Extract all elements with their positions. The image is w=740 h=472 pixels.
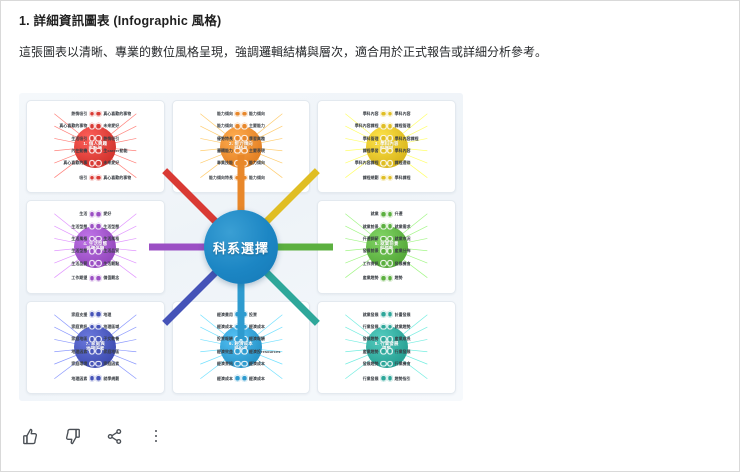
- cluster-card-economic-cost[interactable]: 6. 經濟成本與投資經濟費用經濟成本投資報酬經濟效益經濟資訊經濟成本投資經濟成本…: [172, 301, 311, 394]
- cluster-leaf[interactable]: 經濟成本: [241, 324, 309, 331]
- cluster-leaf[interactable]: 學科內容課程: [318, 123, 386, 130]
- cluster-leaf[interactable]: 子女教養: [95, 336, 163, 343]
- cluster-leaf[interactable]: 經濟報酬: [241, 336, 309, 343]
- cluster-leaf[interactable]: 生活觀點: [95, 260, 163, 267]
- infographic-grid: 1. 個人興趣與動機熱情吸引真心喜歡的事物生活吸引內在動機真心喜歡的事吸引真心喜…: [19, 93, 463, 401]
- cluster-leaf-dot: [380, 311, 387, 318]
- cluster-card-lifestyle-values[interactable]: 4. 生活型態與價值觀生活生活型態生活風格生活型態生活品質工作期望愛好生活型態生…: [26, 200, 165, 293]
- cluster-leaf-label: 生活品質: [103, 248, 119, 254]
- cluster-leaf-label: 地理因素: [71, 348, 87, 354]
- cluster-leaf-dot: [241, 135, 248, 142]
- cluster-leaf-label: 經濟報酬: [249, 336, 265, 342]
- cluster-leaf-dot: [387, 248, 394, 255]
- cluster-leaf[interactable]: 工作資訊: [318, 260, 386, 267]
- cluster-leaf-label: 升遷: [395, 211, 403, 217]
- cluster-leaf-dot: [234, 174, 241, 181]
- cluster-leaf[interactable]: 發展機會: [387, 260, 455, 267]
- cluster-leaf[interactable]: 經濟成本: [241, 375, 309, 382]
- message-paragraph: 這張圖表以清晰、專業的數位風格呈現，強調邏輯結構與層次，適合用於正式報告或詳細分…: [19, 41, 709, 64]
- cluster-leaf[interactable]: 能力傾向: [173, 111, 241, 118]
- cluster-leaf-label: 吸引: [79, 175, 87, 181]
- cluster-leaf-label: 生活型態: [103, 223, 119, 229]
- cluster-leaf-label: 價值觀念: [103, 275, 119, 281]
- cluster-leaf-dot: [380, 135, 387, 142]
- cluster-leaf-label: 邏輯能力: [217, 148, 233, 154]
- cluster-leaf[interactable]: 能力傾向: [241, 174, 309, 181]
- cluster-leaf-dot: [234, 160, 241, 167]
- cluster-leaf-dot: [387, 236, 394, 243]
- cluster-leaf[interactable]: 能力傾向: [173, 123, 241, 130]
- cluster-leaf-label: 經濟成本: [249, 361, 265, 367]
- cluster-leaf-dot: [380, 375, 387, 382]
- cluster-leaf[interactable]: 熱情吸引: [95, 135, 163, 142]
- thumbs-down-icon[interactable]: [61, 425, 83, 447]
- cluster-leaf[interactable]: 地理: [95, 311, 163, 318]
- cluster-leaf-label: 能力傾向: [217, 111, 233, 117]
- cluster-leaf-dot: [95, 324, 102, 331]
- cluster-leaf-label: 學科內容: [395, 111, 411, 117]
- cluster-leaf[interactable]: 家庭地區: [95, 348, 163, 355]
- cluster-leaf-dot: [380, 160, 387, 167]
- cluster-leaf[interactable]: 發展趨勢: [318, 361, 386, 368]
- cluster-leaf[interactable]: 地理因素: [27, 375, 95, 382]
- cluster-leaf[interactable]: 真心喜歡的事物: [95, 111, 163, 118]
- cluster-leaf-dot: [380, 336, 387, 343]
- cluster-leaf[interactable]: 經濟資訊: [173, 361, 241, 368]
- cluster-leaf-label: 趨勢指引: [395, 375, 411, 381]
- cluster-leaf-label: 能力傾向特長: [209, 175, 233, 181]
- cluster-leaf[interactable]: 投資: [241, 311, 309, 318]
- cluster-leaf[interactable]: 能力傾向: [241, 160, 309, 167]
- cluster-leaf-label: 産業分佈: [395, 248, 411, 254]
- cluster-leaf-label: 課程規劃: [363, 175, 379, 181]
- cluster-leaf[interactable]: 行業機會: [387, 361, 455, 368]
- cluster-leaf-label: 學科內容: [363, 111, 379, 117]
- cluster-leaf-dot: [95, 160, 102, 167]
- cluster-leaf-label: 經濟成本: [217, 324, 233, 330]
- cluster-leaf-label: 經濟投resources: [249, 348, 280, 354]
- cluster-leaf-label: 家庭地區: [71, 336, 87, 342]
- cluster-leaf-label: 熱情吸引: [103, 135, 119, 141]
- cluster-leaf-label: 學科內容課程: [395, 135, 419, 141]
- cluster-leaf-label: 就學規劃: [103, 375, 119, 381]
- cluster-leaf-dot: [95, 275, 102, 282]
- cluster-leaf[interactable]: 就業發展: [318, 311, 386, 318]
- cluster-leaf-label: 生活觀點: [103, 260, 119, 266]
- cluster-leaf-dot: [95, 111, 102, 118]
- cluster-leaf[interactable]: 家庭環境: [27, 361, 95, 368]
- cluster-leaf[interactable]: 優勢特長: [173, 135, 241, 142]
- cluster-leaf-dot: [234, 375, 241, 382]
- cluster-leaf-label: 熱情吸引: [71, 111, 87, 117]
- cluster-leaf[interactable]: 投資報酬: [173, 336, 241, 343]
- cluster-leaf-label: 專業技能: [217, 160, 233, 166]
- cluster-leaf-dot: [241, 324, 248, 331]
- cluster-leaf-dot: [241, 336, 248, 343]
- cluster-leaf-label: 學科內容課程: [355, 160, 379, 166]
- cluster-leaf[interactable]: 學科內容: [387, 148, 455, 155]
- cluster-leaf-label: 經濟成本: [249, 375, 265, 381]
- cluster-leaf-label: 學科課程: [395, 175, 411, 181]
- cluster-leaf-dot: [380, 174, 387, 181]
- cluster-leaf[interactable]: 産業成長: [387, 336, 455, 343]
- cluster-leaf[interactable]: 價值觀念: [95, 275, 163, 282]
- cluster-leaf[interactable]: 升遷: [387, 211, 455, 218]
- cluster-leaf-label: 發展趨勢: [363, 336, 379, 342]
- cluster-leaf-dot: [95, 375, 102, 382]
- cluster-leaf-label: 工作資訊: [363, 260, 379, 266]
- cluster-leaf[interactable]: 生活品質: [95, 248, 163, 255]
- cluster-leaf[interactable]: 行業發展: [387, 348, 455, 355]
- cluster-leaf[interactable]: 家庭地區: [27, 336, 95, 343]
- cluster-leaf-dot: [387, 348, 394, 355]
- cluster-card-ability-strength[interactable]: 2. 能力傾向與特長能力傾向能力傾向優勢特長邏輯能力專業技能能力傾向特長能力傾向…: [172, 100, 311, 193]
- cluster-leaf[interactable]: 真心喜歡的事: [27, 160, 95, 167]
- cluster-leaf-label: 生活風格: [71, 236, 87, 242]
- cluster-leaf[interactable]: 學科內容: [387, 111, 455, 118]
- cluster-card-personal-interest[interactable]: 1. 個人興趣與動機熱情吸引真心喜歡的事物生活吸引內在動機真心喜歡的事吸引真心喜…: [26, 100, 165, 193]
- cluster-leaf-label: 學科管理: [363, 135, 379, 141]
- cluster-leaf[interactable]: 趨勢指引: [387, 375, 455, 382]
- cluster-leaf-label: 生活型態: [71, 223, 87, 229]
- thumbs-up-icon[interactable]: [19, 425, 41, 447]
- cluster-leaf[interactable]: 就業需求: [387, 223, 455, 230]
- cluster-leaf[interactable]: 學科內容: [318, 111, 386, 118]
- cluster-leaf[interactable]: 生career動能: [95, 148, 163, 155]
- cluster-leaf[interactable]: 愛好: [95, 211, 163, 218]
- cluster-leaf-dot: [380, 348, 387, 355]
- cluster-leaf[interactable]: 學科內容課程: [387, 135, 455, 142]
- cluster-leaf-label: 生活吸引: [71, 135, 87, 141]
- cluster-leaf-label: 學科內容課程: [355, 123, 379, 129]
- cluster-leaf[interactable]: 生活型態: [27, 223, 95, 230]
- cluster-leaf-dot: [387, 111, 394, 118]
- cluster-leaf-dot: [95, 260, 102, 267]
- page-title: 1. 詳細資訊圖表 (Infographic 風格): [19, 13, 721, 29]
- cluster-card-subject-curriculum[interactable]: 3. 學科內容與課程學科內容學科內容課程學科管理課程學習學科內容課程課程規劃學科…: [317, 100, 456, 193]
- cluster-leaf-label: 計畫發展: [395, 311, 411, 317]
- cluster-leaf-label: 家庭地區: [103, 348, 119, 354]
- cluster-leaf-label: 生career動能: [103, 148, 127, 154]
- cluster-leaf-label: 發展前景: [363, 248, 379, 254]
- cluster-leaf-label: 內在動機: [71, 148, 87, 154]
- cluster-leaf-label: 課程學習: [363, 148, 379, 154]
- cluster-leaf-dot: [95, 348, 102, 355]
- cluster-leaf[interactable]: 吸引: [27, 174, 95, 181]
- cluster-leaf-dot: [387, 375, 394, 382]
- cluster-leaf[interactable]: 升遷調薪: [318, 236, 386, 243]
- share-icon[interactable]: [103, 425, 125, 447]
- cluster-leaf[interactable]: 熱情吸引: [27, 111, 95, 118]
- cluster-leaf[interactable]: 學科課程: [387, 174, 455, 181]
- cluster-leaf-dot: [95, 311, 102, 318]
- cluster-leaf-dot: [95, 135, 102, 142]
- cluster-leaf-dot: [241, 123, 248, 130]
- cluster-leaf-dot: [234, 123, 241, 130]
- cluster-leaf-label: 産業成長: [395, 336, 411, 342]
- cluster-leaf-dot: [234, 111, 241, 118]
- cluster-leaf-dot: [380, 123, 387, 130]
- cluster-leaf-label: 學科內容: [395, 148, 411, 154]
- cluster-leaf-dot: [380, 361, 387, 368]
- cluster-leaf[interactable]: 産業分佈: [387, 248, 455, 255]
- cluster-leaf[interactable]: 發展前景: [318, 248, 386, 255]
- cluster-leaf-label: 優勢特長: [217, 135, 233, 141]
- cluster-leaf-dot: [387, 135, 394, 142]
- cluster-leaf[interactable]: 課程管理: [387, 123, 455, 130]
- cluster-leaf-label: 地理: [103, 311, 111, 317]
- cluster-leaf-label: 投資報酬: [217, 336, 233, 342]
- cluster-leaf-label: 課程管理: [395, 123, 411, 129]
- cluster-leaf-dot: [380, 111, 387, 118]
- cluster-leaf-label: 子女教養: [103, 336, 119, 342]
- cluster-leaf-dot: [241, 148, 248, 155]
- cluster-leaf[interactable]: 經濟投resources: [241, 348, 309, 355]
- cluster-leaf-label: 未來愛好: [103, 160, 119, 166]
- cluster-leaf-dot: [95, 123, 102, 130]
- cluster-leaf[interactable]: 産業趨勢: [318, 348, 386, 355]
- cluster-leaf-dot: [380, 260, 387, 267]
- cluster-leaf[interactable]: 課程學習: [318, 148, 386, 155]
- cluster-leaf-label: 生活型態: [71, 248, 87, 254]
- cluster-leaf-label: 生活品質: [71, 260, 87, 266]
- cluster-leaf-dot: [241, 160, 248, 167]
- cluster-leaf-label: 經濟費用: [217, 311, 233, 317]
- cluster-leaf-label: 産業趨勢: [363, 275, 379, 281]
- cluster-leaf-dot: [95, 211, 102, 218]
- cluster-leaf-dot: [380, 275, 387, 282]
- cluster-leaf[interactable]: 就學規劃: [95, 375, 163, 382]
- cluster-leaf-label: 課程選修: [395, 160, 411, 166]
- cluster-leaf-label: 主要表現: [249, 148, 265, 154]
- cluster-leaf[interactable]: 課程規劃: [318, 174, 386, 181]
- cluster-leaf-dot: [380, 236, 387, 243]
- cluster-leaf-label: 投資: [249, 311, 257, 317]
- cluster-leaf-dot: [387, 275, 394, 282]
- cluster-leaf-dot: [234, 348, 241, 355]
- cluster-leaf[interactable]: 地理因素: [27, 348, 95, 355]
- cluster-leaf[interactable]: 行業發展: [318, 375, 386, 382]
- cluster-leaf[interactable]: 工作期望: [27, 275, 95, 282]
- cluster-leaf[interactable]: 家庭因素: [95, 361, 163, 368]
- cluster-leaf-label: 能力傾向: [217, 123, 233, 129]
- cluster-leaf[interactable]: 就業: [318, 211, 386, 218]
- cluster-leaf-label: 升遷調薪: [363, 236, 379, 242]
- more-vertical-glyph: [155, 430, 158, 443]
- cluster-leaf-label: 發展趨勢: [363, 361, 379, 367]
- message-action-bar: [19, 425, 167, 447]
- cluster-leaf-dot: [95, 248, 102, 255]
- cluster-leaf-dot: [241, 311, 248, 318]
- cluster-leaf[interactable]: 主要表現: [241, 148, 309, 155]
- cluster-leaf-label: 未來愛好: [103, 123, 119, 129]
- cluster-leaf-label: 能力傾向: [249, 175, 265, 181]
- cluster-leaf[interactable]: 生活: [27, 211, 95, 218]
- cluster-leaf-dot: [387, 123, 394, 130]
- cluster-leaf-label: 就業: [371, 211, 379, 217]
- cluster-leaf[interactable]: 內在動機: [27, 148, 95, 155]
- cluster-leaf-label: 能力傾向: [249, 160, 265, 166]
- cluster-leaf[interactable]: 發展趨勢: [318, 336, 386, 343]
- cluster-leaf-label: 行業發展: [363, 324, 379, 330]
- cluster-leaf[interactable]: 行業發展: [318, 324, 386, 331]
- cluster-leaf-label: 家庭支援: [71, 311, 87, 317]
- cluster-leaf-label: 真心喜歡的事: [63, 160, 87, 166]
- cluster-card-industry-trend[interactable]: 8. 行業發展趨勢就業發展行業發展發展趨勢産業趨勢發展趨勢行業發展計畫發展就業趨…: [317, 301, 456, 394]
- cluster-leaf[interactable]: 生活品質: [27, 260, 95, 267]
- cluster-leaf-label: 真心喜歡的事物: [103, 111, 131, 117]
- cluster-leaf-dot: [241, 361, 248, 368]
- cluster-leaf-label: 産業趨勢: [363, 348, 379, 354]
- cluster-leaf-label: 行業機會: [395, 361, 411, 367]
- cluster-leaf-label: 家庭因素: [103, 361, 119, 367]
- cluster-leaf-label: 就業趨勢: [395, 324, 411, 330]
- cluster-leaf-dot: [387, 324, 394, 331]
- cluster-leaf-dot: [380, 223, 387, 230]
- cluster-leaf-dot: [241, 111, 248, 118]
- cluster-leaf-dot: [380, 324, 387, 331]
- cluster-leaf-dot: [387, 336, 394, 343]
- cluster-leaf-label: 家庭環境: [71, 361, 87, 367]
- cluster-leaf[interactable]: 趨勢: [387, 275, 455, 282]
- cluster-leaf-dot: [241, 174, 248, 181]
- cluster-leaf[interactable]: 地理區域: [95, 324, 163, 331]
- cluster-leaf[interactable]: 就業前景: [318, 223, 386, 230]
- cluster-leaf-label: 能力傾向: [249, 111, 265, 117]
- cluster-leaf-label: 地理區域: [103, 324, 119, 330]
- cluster-leaf-label: 就業需求: [395, 223, 411, 229]
- cluster-leaf[interactable]: 學科管理: [318, 135, 386, 142]
- cluster-leaf-label: 發展機會: [395, 260, 411, 266]
- cluster-leaf[interactable]: 經濟成本: [173, 324, 241, 331]
- more-vertical-icon[interactable]: [145, 425, 167, 447]
- cluster-leaf-label: 生活風格: [103, 236, 119, 242]
- cluster-leaf[interactable]: 真心喜歡的事物: [27, 123, 95, 130]
- cluster-leaf[interactable]: 家庭支援: [27, 311, 95, 318]
- cluster-leaf-dot: [387, 260, 394, 267]
- cluster-leaf-label: 行業發展: [395, 348, 411, 354]
- cluster-leaf-label: 就業前景: [363, 223, 379, 229]
- cluster-leaf[interactable]: 經濟費用: [173, 311, 241, 318]
- cluster-leaf-label: 經濟成本: [249, 324, 265, 330]
- cluster-leaf-label: 家庭資訊: [71, 324, 87, 330]
- message-body: 1. 詳細資訊圖表 (Infographic 風格) 這張圖表以清晰、專業的數位…: [1, 1, 739, 65]
- cluster-leaf-label: 主要能力: [249, 123, 265, 129]
- cluster-leaf-label: 就業發展: [363, 311, 379, 317]
- cluster-leaf[interactable]: 課程選修: [387, 160, 455, 167]
- cluster-leaf[interactable]: 經濟成本: [241, 361, 309, 368]
- cluster-leaf-dot: [387, 361, 394, 368]
- cluster-card-family-geography[interactable]: 7. 家庭與地理因素家庭支援家庭資訊家庭地區地理因素家庭環境地理因素地理地理區域…: [26, 301, 165, 394]
- cluster-leaf-dot: [95, 174, 102, 181]
- cluster-leaf-label: 經濟效益: [217, 348, 233, 354]
- cluster-leaf[interactable]: 主要能力: [241, 123, 309, 130]
- cluster-leaf[interactable]: 生活風格: [27, 236, 95, 243]
- cluster-leaf-dot: [95, 236, 102, 243]
- infographic-image[interactable]: 1. 個人興趣與動機熱情吸引真心喜歡的事物生活吸引內在動機真心喜歡的事吸引真心喜…: [19, 93, 463, 401]
- cluster-leaf[interactable]: 就業趨勢: [387, 324, 455, 331]
- cluster-leaf[interactable]: 學習興趣: [241, 135, 309, 142]
- cluster-leaf-dot: [234, 135, 241, 142]
- cluster-leaf[interactable]: 能力傾向特長: [173, 174, 241, 181]
- cluster-leaf-dot: [241, 348, 248, 355]
- cluster-leaf-dot: [387, 174, 394, 181]
- cluster-card-employment-outlook[interactable]: 5. 就業前景與趨勢就業就業前景升遷調薪發展前景工作資訊産業趨勢升遷就業需求就業…: [317, 200, 456, 293]
- cluster-leaf[interactable]: 經濟成本: [173, 375, 241, 382]
- cluster-leaf-label: 經濟成本: [217, 375, 233, 381]
- cluster-leaf-label: 愛好: [103, 211, 111, 217]
- cluster-leaf[interactable]: 未來愛好: [95, 160, 163, 167]
- center-cell: [172, 200, 311, 293]
- cluster-leaf[interactable]: 邏輯能力: [173, 148, 241, 155]
- cluster-leaf-dot: [95, 148, 102, 155]
- cluster-leaf-label: 經濟資訊: [217, 361, 233, 367]
- cluster-leaf-dot: [380, 248, 387, 255]
- cluster-leaf-label: 趨勢: [395, 275, 403, 281]
- cluster-leaf-dot: [234, 148, 241, 155]
- cluster-leaf-dot: [234, 361, 241, 368]
- chat-response-page: 1. 詳細資訊圖表 (Infographic 風格) 這張圖表以清晰、專業的數位…: [0, 0, 740, 472]
- cluster-leaf-dot: [387, 148, 394, 155]
- cluster-leaf-dot: [241, 375, 248, 382]
- cluster-leaf[interactable]: 生活吸引: [27, 135, 95, 142]
- cluster-leaf-dot: [95, 361, 102, 368]
- cluster-leaf[interactable]: 生活風格: [95, 236, 163, 243]
- cluster-leaf-dot: [387, 311, 394, 318]
- cluster-leaf[interactable]: 未來愛好: [95, 123, 163, 130]
- cluster-leaf[interactable]: 家庭資訊: [27, 324, 95, 331]
- cluster-leaf-label: 真心喜歡的事物: [103, 175, 131, 181]
- cluster-leaf-dot: [234, 324, 241, 331]
- cluster-leaf-dot: [234, 311, 241, 318]
- cluster-leaf-label: 工作期望: [71, 275, 87, 281]
- cluster-leaf[interactable]: 産業趨勢: [318, 275, 386, 282]
- cluster-leaf[interactable]: 經濟效益: [173, 348, 241, 355]
- cluster-leaf-label: 真心喜歡的事物: [59, 123, 87, 129]
- cluster-leaf-label: 地理因素: [71, 375, 87, 381]
- cluster-leaf[interactable]: 生活型態: [27, 248, 95, 255]
- cluster-leaf-dot: [95, 336, 102, 343]
- cluster-leaf[interactable]: 能力傾向: [241, 111, 309, 118]
- cluster-leaf-dot: [234, 336, 241, 343]
- cluster-leaf-label: 就業市況: [395, 236, 411, 242]
- cluster-leaf[interactable]: 真心喜歡的事物: [95, 174, 163, 181]
- cluster-leaf[interactable]: 學科內容課程: [318, 160, 386, 167]
- cluster-leaf-label: 行業發展: [363, 375, 379, 381]
- cluster-leaf-label: 學習興趣: [249, 135, 265, 141]
- cluster-leaf-dot: [387, 223, 394, 230]
- cluster-leaf-dot: [387, 160, 394, 167]
- cluster-leaf-dot: [387, 211, 394, 218]
- cluster-leaf[interactable]: 生活型態: [95, 223, 163, 230]
- cluster-leaf[interactable]: 就業市況: [387, 236, 455, 243]
- cluster-leaf[interactable]: 計畫發展: [387, 311, 455, 318]
- cluster-leaf-dot: [95, 223, 102, 230]
- cluster-leaf-dot: [380, 148, 387, 155]
- cluster-leaf[interactable]: 專業技能: [173, 160, 241, 167]
- cluster-leaf-label: 生活: [79, 211, 87, 217]
- cluster-leaf-dot: [380, 211, 387, 218]
